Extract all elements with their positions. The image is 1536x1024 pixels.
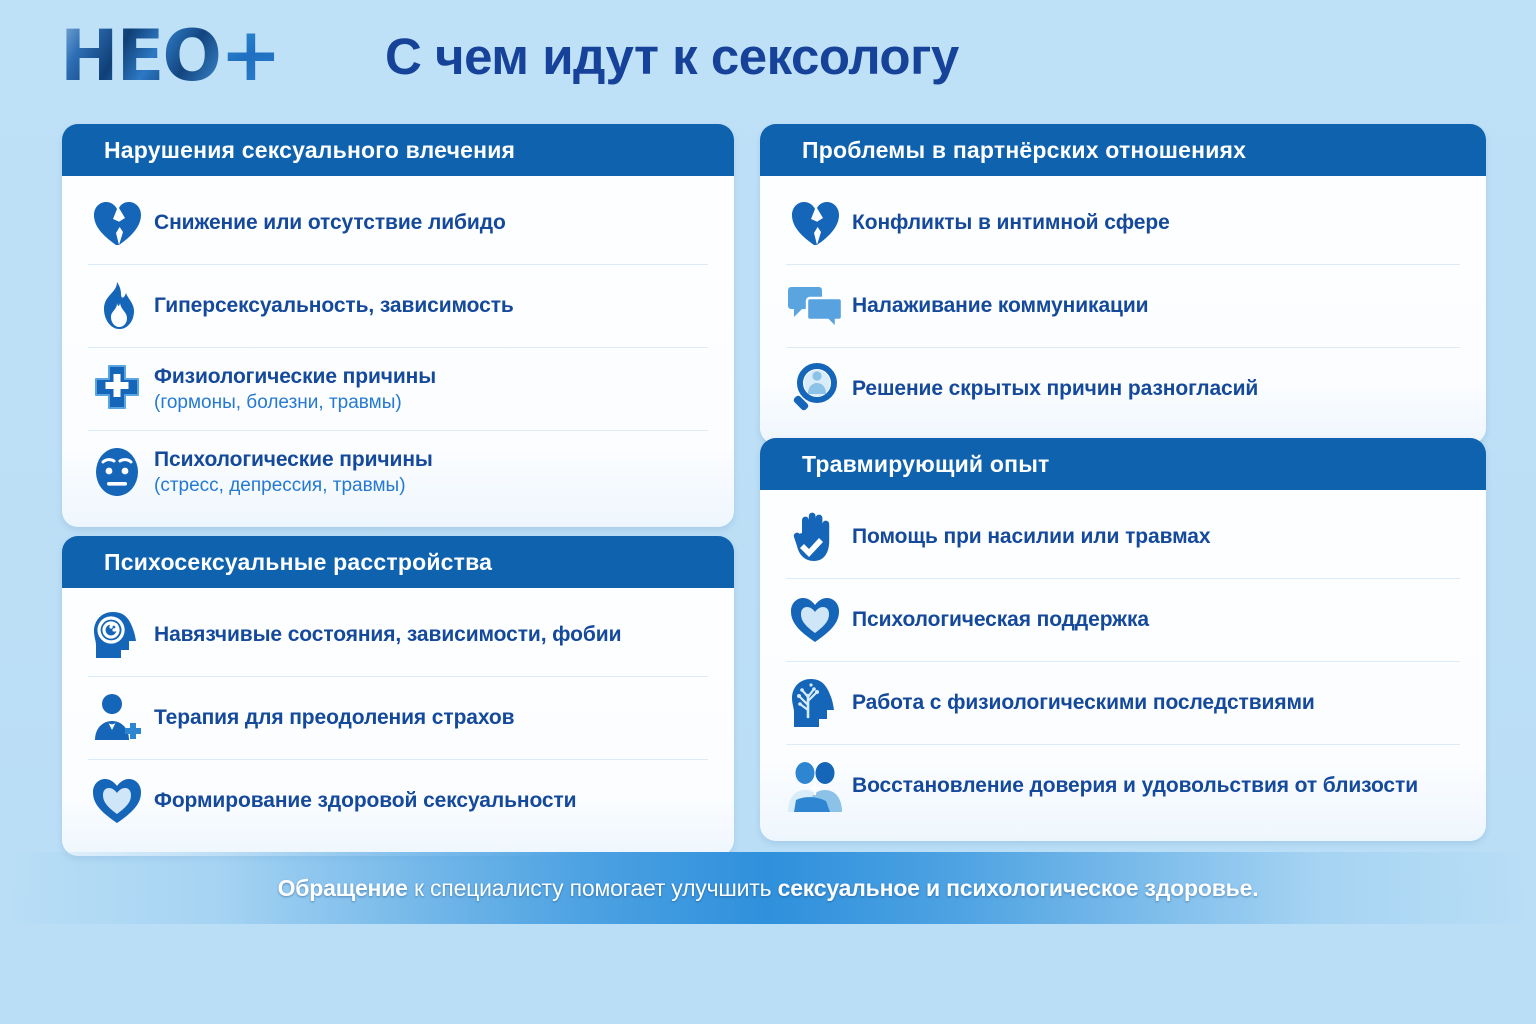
- list-item-sublabel: (гормоны, болезни, травмы): [154, 390, 436, 415]
- footer-banner: Обращение к специалисту помогает улучшит…: [0, 852, 1536, 924]
- list-item-text: Физиологические причины(гормоны, болезни…: [154, 364, 436, 415]
- card-traumatic-experience: Травмирующий опыт Помощь при насилии или…: [760, 438, 1486, 841]
- list-item-text: Помощь при насилии или травмах: [852, 524, 1210, 550]
- card-body: Помощь при насилии или травмах Психологи…: [760, 490, 1486, 841]
- list-item: Терапия для преодоления страхов: [88, 677, 708, 760]
- list-item-text: Восстановление доверия и удовольствия от…: [852, 773, 1418, 799]
- list-item-label: Восстановление доверия и удовольствия от…: [852, 773, 1418, 799]
- footer-text: Обращение к специалисту помогает улучшит…: [278, 875, 1259, 902]
- list-item-text: Навязчивые состояния, зависимости, фобии: [154, 622, 621, 648]
- brand-logo: НЕО+: [60, 18, 320, 92]
- list-item-label: Психологические причины: [154, 447, 433, 473]
- head-tree-icon: [786, 675, 844, 731]
- card-header: Нарушения сексуального влечения: [62, 124, 734, 176]
- list-item-text: Психологическая поддержка: [852, 607, 1149, 633]
- list-item: Физиологические причины(гормоны, болезни…: [88, 348, 708, 431]
- brand-logo-text: НЕО: [60, 15, 220, 97]
- list-item: Конфликты в интимной сфере: [786, 182, 1460, 265]
- list-item: Налаживание коммуникации: [786, 265, 1460, 348]
- card-title: Травмирующий опыт: [760, 451, 1050, 478]
- list-item-sublabel: (стресс, депрессия, травмы): [154, 473, 433, 498]
- list-item-label: Конфликты в интимной сфере: [852, 210, 1170, 236]
- list-item-text: Психологические причины(стресс, депресси…: [154, 447, 433, 498]
- list-item-label: Работа с физиологическими последствиями: [852, 690, 1315, 716]
- page-header: НЕО+ С чем идут к сексологу: [0, 0, 1536, 112]
- card-partner-relationship-problems: Проблемы в партнёрских отношениях Конфли…: [760, 124, 1486, 444]
- list-item: Гиперсексуальность, зависимость: [88, 265, 708, 348]
- list-item: Работа с физиологическими последствиями: [786, 662, 1460, 745]
- list-item: Помощь при насилии или травмах: [786, 496, 1460, 579]
- list-item-label: Гиперсексуальность, зависимость: [154, 293, 514, 319]
- list-item-text: Формирование здоровой сексуальности: [154, 788, 577, 814]
- speech-bubbles-icon: [786, 278, 844, 334]
- list-item-text: Терапия для преодоления страхов: [154, 705, 514, 731]
- list-item-text: Гиперсексуальность, зависимость: [154, 293, 514, 319]
- card-title: Психосексуальные расстройства: [62, 549, 492, 576]
- list-item-label: Налаживание коммуникации: [852, 293, 1148, 319]
- card-header: Психосексуальные расстройства: [62, 536, 734, 588]
- card-header: Проблемы в партнёрских отношениях: [760, 124, 1486, 176]
- flame-icon: [88, 278, 146, 334]
- list-item-text: Решение скрытых причин разногласий: [852, 376, 1258, 402]
- list-item: Восстановление доверия и удовольствия от…: [786, 745, 1460, 827]
- list-item-label: Помощь при насилии или травмах: [852, 524, 1210, 550]
- head-spiral-icon: [88, 607, 146, 663]
- list-item: Снижение или отсутствие либидо: [88, 182, 708, 265]
- list-item-label: Формирование здоровой сексуальности: [154, 788, 577, 814]
- list-item: Формирование здоровой сексуальности: [88, 760, 708, 842]
- card-body: Навязчивые состояния, зависимости, фобии…: [62, 588, 734, 856]
- hand-stop-icon: [786, 509, 844, 565]
- footer-strong: сексуальное и психологическое здоровье.: [778, 875, 1259, 901]
- card-sexual-desire-disorders: Нарушения сексуального влечения Снижение…: [62, 124, 734, 527]
- broken-heart-icon: [88, 195, 146, 251]
- card-title: Нарушения сексуального влечения: [62, 137, 515, 164]
- list-item-label: Психологическая поддержка: [852, 607, 1149, 633]
- brand-logo-plus: +: [220, 12, 280, 98]
- list-item-label: Снижение или отсутствие либидо: [154, 210, 506, 236]
- list-item-text: Снижение или отсутствие либидо: [154, 210, 506, 236]
- medical-cross-icon: [88, 361, 146, 417]
- list-item-text: Конфликты в интимной сфере: [852, 210, 1170, 236]
- magnifier-person-icon: [786, 361, 844, 417]
- page-title: С чем идут к сексологу: [385, 22, 1085, 92]
- card-psychosexual-disorders: Психосексуальные расстройства Навязчивые…: [62, 536, 734, 856]
- footer-middle: к специалисту помогает улучшить: [408, 875, 778, 901]
- footer-lead: Обращение: [278, 875, 408, 901]
- list-item-label: Физиологические причины: [154, 364, 436, 390]
- list-item: Психологическая поддержка: [786, 579, 1460, 662]
- card-title: Проблемы в партнёрских отношениях: [760, 137, 1246, 164]
- card-body: Конфликты в интимной сфере Налаживание к…: [760, 176, 1486, 444]
- list-item-text: Работа с физиологическими последствиями: [852, 690, 1315, 716]
- list-item-label: Решение скрытых причин разногласий: [852, 376, 1258, 402]
- list-item-text: Налаживание коммуникации: [852, 293, 1148, 319]
- heart-icon: [786, 592, 844, 648]
- list-item: Решение скрытых причин разногласий: [786, 348, 1460, 430]
- heart-icon: [88, 773, 146, 829]
- list-item: Психологические причины(стресс, депресси…: [88, 431, 708, 513]
- card-header: Травмирующий опыт: [760, 438, 1486, 490]
- list-item: Навязчивые состояния, зависимости, фобии: [88, 594, 708, 677]
- card-body: Снижение или отсутствие либидо Гиперсекс…: [62, 176, 734, 527]
- person-plus-icon: [88, 690, 146, 746]
- infographic-page: НЕО+ С чем идут к сексологу Нарушения се…: [0, 0, 1536, 1024]
- sad-face-icon: [88, 444, 146, 500]
- list-item-label: Терапия для преодоления страхов: [154, 705, 514, 731]
- couple-icon: [786, 758, 844, 814]
- broken-heart-icon: [786, 195, 844, 251]
- list-item-label: Навязчивые состояния, зависимости, фобии: [154, 622, 621, 648]
